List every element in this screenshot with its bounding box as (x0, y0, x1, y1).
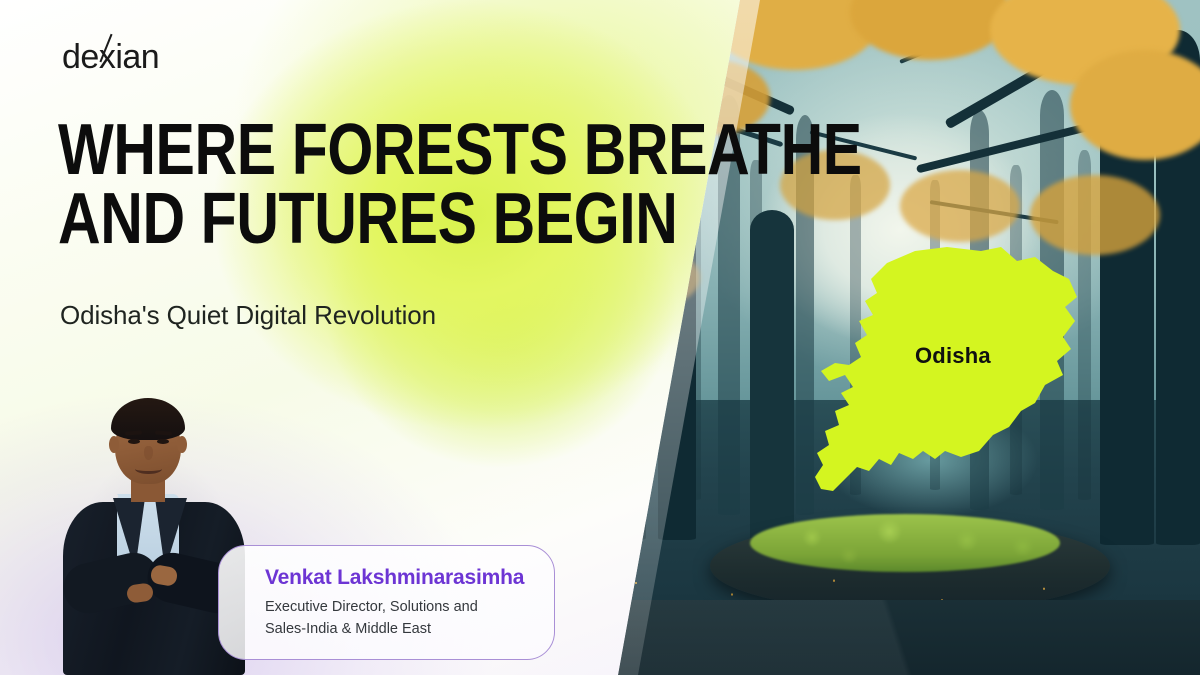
hero-subheadline: Odisha's Quiet Digital Revolution (60, 300, 436, 331)
stone-path-ground (600, 600, 1200, 675)
headline-line-1: WHERE FORESTS BREATHE (58, 110, 862, 190)
speaker-role-line-1: Executive Director, Solutions and (265, 596, 545, 618)
odisha-state-shape (815, 247, 1077, 491)
autumn-foliage-icon (1030, 175, 1160, 255)
portrait-hair (111, 398, 185, 440)
dexian-logo[interactable]: dexian (62, 40, 159, 74)
portrait-ear-right (177, 436, 187, 453)
speaker-role-line-2: Sales-India & Middle East (265, 618, 545, 640)
logo-text-part2: ian (115, 40, 159, 74)
logo-text-part1: de (62, 40, 99, 74)
speaker-info-card: Venkat Lakshminarasimha Executive Direct… (218, 545, 555, 660)
autumn-foliage-icon (900, 170, 1020, 242)
portrait-nose (144, 446, 153, 460)
logo-x-glyph: x (99, 40, 116, 74)
presentation-slide: Odisha dexian WHERE FORESTS BREATHE AND … (0, 0, 1200, 675)
odisha-map-graphic: Odisha (795, 245, 1085, 510)
hero-headline: WHERE FORESTS BREATHE AND FUTURES BEGIN (58, 116, 599, 254)
speaker-name: Venkat Lakshminarasimha (265, 566, 524, 590)
odisha-map-icon (795, 245, 1085, 510)
portrait-eye-right (157, 439, 169, 444)
portrait-mouth (135, 464, 162, 474)
portrait-ear-left (109, 436, 119, 453)
portrait-eye-left (128, 439, 140, 444)
tree-trunk-icon (750, 210, 794, 540)
headline-line-2: AND FUTURES BEGIN (58, 185, 599, 254)
speaker-role: Executive Director, Solutions and Sales-… (265, 596, 545, 641)
odisha-map-label: Odisha (915, 343, 991, 369)
